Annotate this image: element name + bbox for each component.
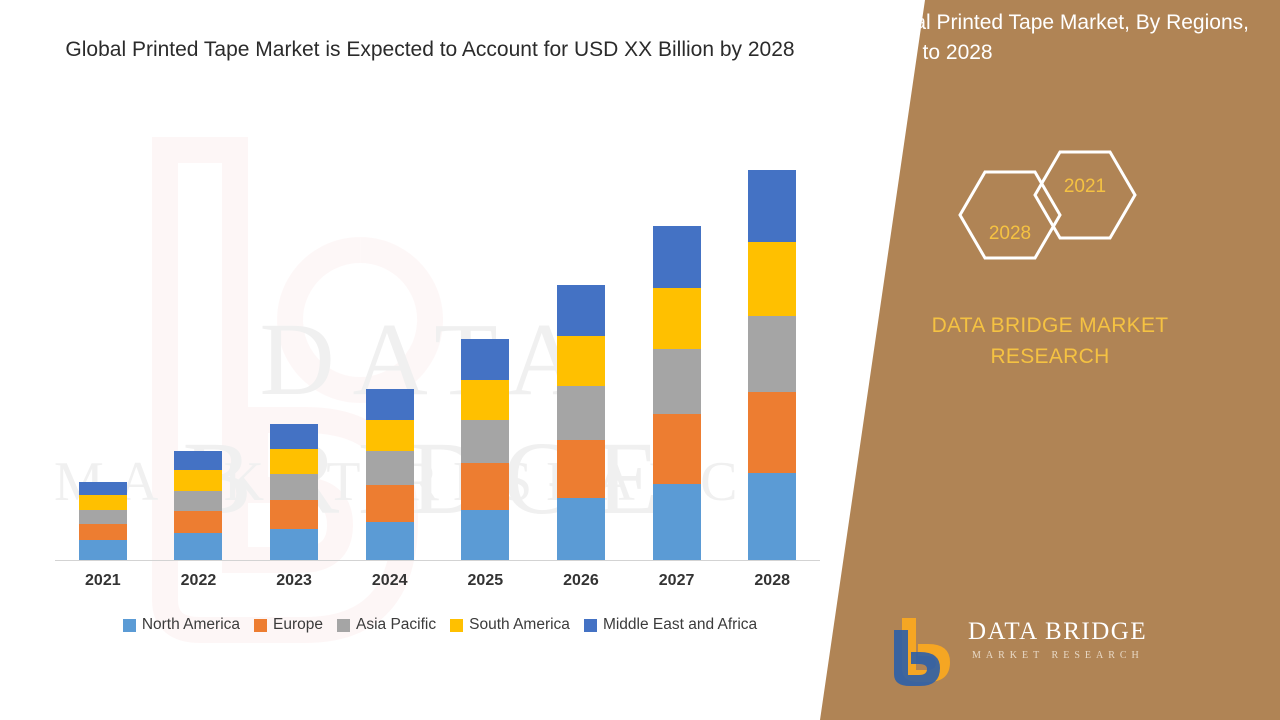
hexagon-icons xyxy=(950,150,1150,280)
legend-label: Europe xyxy=(273,616,323,634)
company-logo-subtitle: MARKET RESEARCH xyxy=(972,650,1144,661)
legend-swatch-icon xyxy=(450,619,463,632)
legend-item[interactable]: Middle East and Africa xyxy=(584,616,757,634)
bar-group xyxy=(557,285,605,560)
bar-segment xyxy=(79,482,127,495)
x-axis-label: 2024 xyxy=(342,572,438,590)
legend-label: North America xyxy=(142,616,240,634)
hexagon-back-label: 2028 xyxy=(970,223,1050,245)
legend-swatch-icon xyxy=(254,619,267,632)
chart-legend: North AmericaEuropeAsia PacificSouth Ame… xyxy=(55,616,825,634)
bar-segment xyxy=(174,533,222,560)
bar-segment xyxy=(79,495,127,510)
legend-label: Asia Pacific xyxy=(356,616,436,634)
bar-segment xyxy=(270,500,318,529)
bar-segment xyxy=(557,386,605,440)
chart-title: Global Printed Tape Market is Expected t… xyxy=(60,34,800,66)
company-logo-name: DATA BRIDGE xyxy=(968,618,1147,646)
bar-segment xyxy=(270,424,318,449)
x-axis-label: 2025 xyxy=(437,572,533,590)
bar-segment xyxy=(557,285,605,335)
bar-segment xyxy=(557,336,605,386)
bar-segment xyxy=(557,440,605,498)
hexagon-front-label: 2021 xyxy=(1045,176,1125,198)
legend-label: South America xyxy=(469,616,570,634)
bar-segment xyxy=(366,389,414,420)
bar-group xyxy=(79,482,127,560)
bar-segment xyxy=(366,522,414,560)
bar-segment xyxy=(748,170,796,242)
bar-segment xyxy=(461,339,509,379)
x-axis-label: 2027 xyxy=(629,572,725,590)
brand-line-1: DATA BRIDGE MARKET xyxy=(850,310,1250,341)
legend-swatch-icon xyxy=(337,619,350,632)
right-brand-panel: Global Printed Tape Market, By Regions, … xyxy=(820,0,1280,720)
company-logo: DATA BRIDGE MARKET RESEARCH xyxy=(880,612,1230,692)
bar-segment xyxy=(79,540,127,560)
bar-segment xyxy=(461,510,509,560)
bar-segment xyxy=(748,392,796,473)
bar-segment xyxy=(174,491,222,511)
legend-item[interactable]: Asia Pacific xyxy=(337,616,436,634)
bar-segment xyxy=(653,226,701,288)
bar-segment xyxy=(270,529,318,560)
x-axis-label: 2026 xyxy=(533,572,629,590)
bar-segment xyxy=(748,316,796,392)
bar-segment xyxy=(174,470,222,490)
bar-segment xyxy=(557,498,605,560)
right-panel-title: Global Printed Tape Market, By Regions, … xyxy=(870,8,1256,68)
bar-segment xyxy=(748,473,796,560)
bar-segment xyxy=(79,524,127,540)
x-axis-label: 2023 xyxy=(246,572,342,590)
x-axis-label: 2022 xyxy=(150,572,246,590)
bar-segment xyxy=(366,451,414,485)
bar-segment xyxy=(748,242,796,316)
company-logo-icon xyxy=(880,612,960,692)
legend-swatch-icon xyxy=(123,619,136,632)
bar-segment xyxy=(174,451,222,470)
hexagon-group: 2028 2021 xyxy=(950,150,1150,280)
bar-segment xyxy=(270,474,318,500)
x-axis-label: 2021 xyxy=(55,572,151,590)
x-axis-line xyxy=(55,560,820,561)
bar-segment xyxy=(366,420,414,451)
brand-line-2: RESEARCH xyxy=(850,341,1250,372)
bar-segment xyxy=(461,420,509,463)
legend-swatch-icon xyxy=(584,619,597,632)
x-axis-labels: 20212022202320242025202620272028 xyxy=(55,572,820,602)
bar-segment xyxy=(366,485,414,522)
bar-segment xyxy=(653,414,701,483)
legend-item[interactable]: Europe xyxy=(254,616,323,634)
bar-segment xyxy=(79,510,127,525)
bar-group xyxy=(748,170,796,560)
slide-canvas: DATA BRIDGE MARKET RESEARCH Global Print… xyxy=(0,0,1280,720)
bar-segment xyxy=(461,380,509,420)
brand-text: DATA BRIDGE MARKET RESEARCH xyxy=(850,310,1250,372)
x-axis-label: 2028 xyxy=(724,572,820,590)
legend-item[interactable]: South America xyxy=(450,616,570,634)
bar-group xyxy=(174,451,222,560)
legend-item[interactable]: North America xyxy=(123,616,240,634)
bar-segment xyxy=(653,288,701,350)
bar-group xyxy=(270,424,318,560)
bar-chart-plot xyxy=(55,150,820,560)
bar-segment xyxy=(461,463,509,510)
bar-group xyxy=(366,389,414,560)
bar-segment xyxy=(653,349,701,414)
bar-group xyxy=(653,226,701,560)
legend-label: Middle East and Africa xyxy=(603,616,757,634)
bar-segment xyxy=(653,484,701,560)
bar-segment xyxy=(174,511,222,533)
bar-group xyxy=(461,339,509,560)
bar-segment xyxy=(270,449,318,474)
